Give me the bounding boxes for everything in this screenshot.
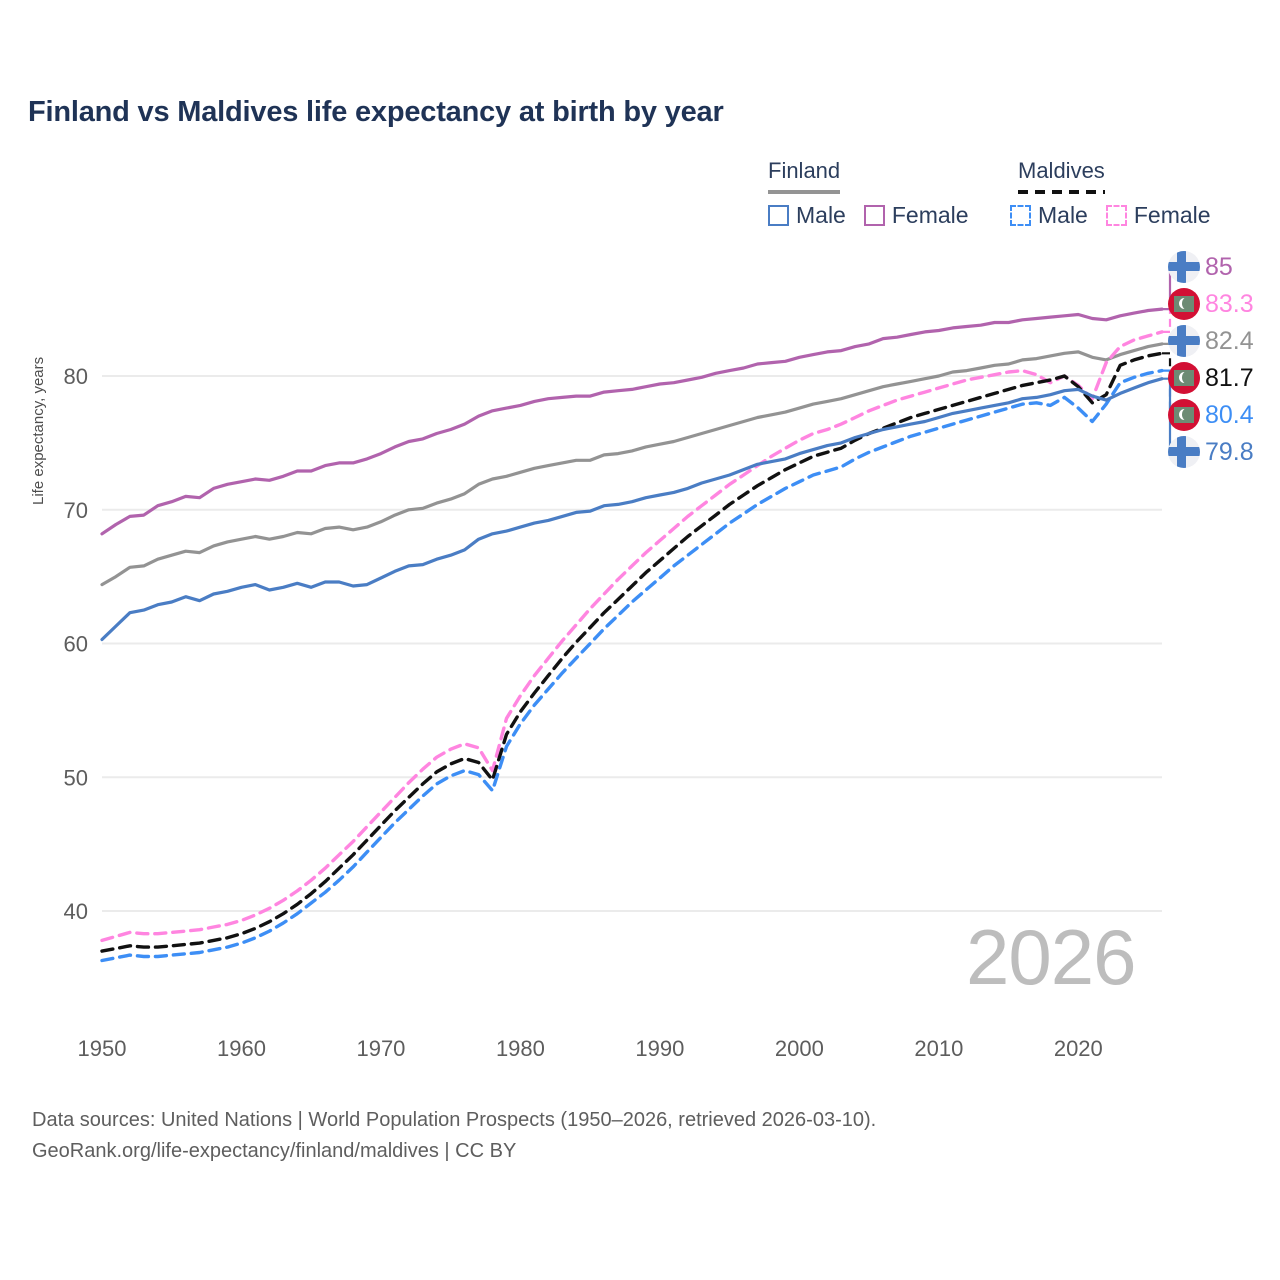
end-label-row: 83.3 [1168, 287, 1254, 321]
crescent-icon [1174, 407, 1194, 423]
end-label-row: 80.4 [1168, 398, 1254, 432]
end-label-value: 85 [1205, 253, 1233, 282]
maldives-flag-icon [1168, 399, 1200, 431]
end-label-row: 82.4 [1168, 324, 1254, 358]
svg-text:80: 80 [64, 364, 88, 389]
crescent-icon [1174, 370, 1194, 386]
svg-text:40: 40 [64, 899, 88, 924]
crescent-icon [1174, 296, 1194, 312]
svg-text:2020: 2020 [1054, 1036, 1103, 1061]
end-label-row: 81.7 [1168, 361, 1254, 395]
svg-text:1950: 1950 [78, 1036, 127, 1061]
svg-text:2000: 2000 [775, 1036, 824, 1061]
finland-flag-icon [1168, 251, 1200, 283]
chart-plot-area: 4050607080 19501960197019801990200020102… [0, 0, 1280, 1280]
series-line-maldives-male [102, 371, 1162, 961]
series-line-maldives-total [102, 353, 1162, 951]
svg-text:1980: 1980 [496, 1036, 545, 1061]
footer-line-1: Data sources: United Nations | World Pop… [32, 1105, 876, 1136]
maldives-flag-icon [1168, 362, 1200, 394]
end-label-value: 79.8 [1205, 438, 1254, 467]
svg-text:2010: 2010 [914, 1036, 963, 1061]
svg-text:60: 60 [64, 632, 88, 657]
svg-text:1960: 1960 [217, 1036, 266, 1061]
chart-y-tick-labels: 4050607080 [64, 364, 88, 924]
chart-series-lines [102, 309, 1162, 960]
finland-flag-icon [1168, 436, 1200, 468]
end-label-value: 81.7 [1205, 364, 1254, 393]
svg-text:1990: 1990 [635, 1036, 684, 1061]
end-label-value: 80.4 [1205, 401, 1254, 430]
finland-flag-icon [1168, 325, 1200, 357]
y-axis-title: Life expectancy, years [30, 357, 47, 505]
watermark-year: 2026 [966, 912, 1136, 1003]
series-line-finland-total [102, 344, 1162, 585]
end-label-row: 85 [1168, 250, 1233, 284]
maldives-flag-icon [1168, 288, 1200, 320]
svg-text:1970: 1970 [356, 1036, 405, 1061]
end-label-row: 79.8 [1168, 435, 1254, 469]
footer-line-2: GeoRank.org/life-expectancy/finland/mald… [32, 1136, 876, 1167]
footer-attribution: Data sources: United Nations | World Pop… [32, 1105, 876, 1167]
chart-x-tick-labels: 19501960197019801990200020102020 [78, 1036, 1103, 1061]
svg-text:70: 70 [64, 498, 88, 523]
svg-text:50: 50 [64, 765, 88, 790]
series-end-labels: 8583.382.481.780.479.8 [1168, 250, 1280, 480]
series-line-maldives-female [102, 332, 1162, 941]
end-label-value: 82.4 [1205, 327, 1254, 356]
end-label-value: 83.3 [1205, 290, 1254, 319]
chart-gridlines [102, 376, 1162, 911]
chart-svg: 4050607080 19501960197019801990200020102… [0, 0, 1280, 1280]
